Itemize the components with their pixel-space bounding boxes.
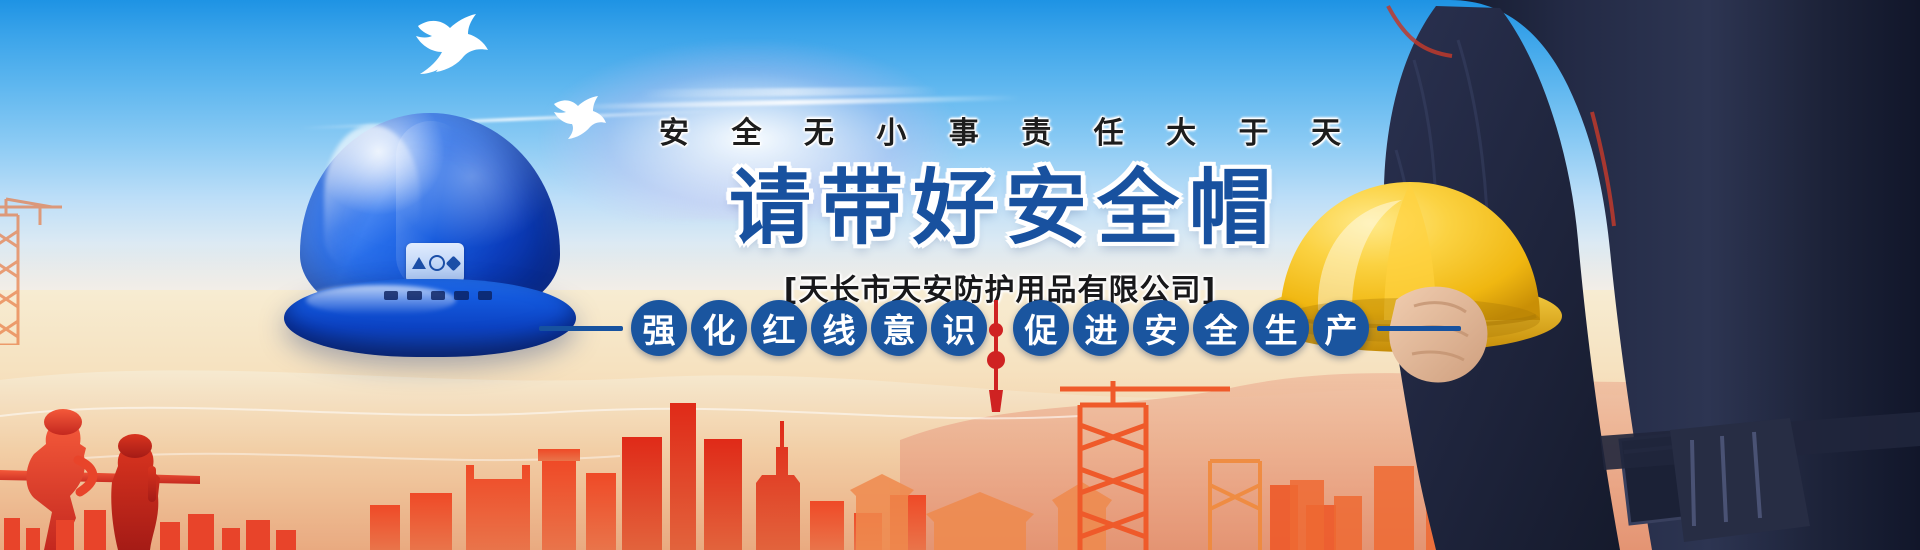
slogan-char: 化 [691,300,747,356]
slogan-char: 进 [1073,300,1129,356]
slogan-char: 红 [751,300,807,356]
safety-helmet-emblem-icon [406,243,464,283]
slogan-char: 意 [871,300,927,356]
slogan-char: 识 [931,300,987,356]
crane-icon [0,195,68,345]
slogan-rule-left [539,326,623,331]
slogan-char: 全 [1193,300,1249,356]
slogan-rule-right [1377,326,1461,331]
dove-icon [408,8,496,86]
slogan-char: 生 [1253,300,1309,356]
slogan-char: 产 [1313,300,1369,356]
blue-safety-helmet [300,95,560,360]
slogan-char: 线 [811,300,867,356]
slogan-char: 促 [1013,300,1069,356]
safety-banner: 安 全 无 小 事 责 任 大 于 天 请带好安全帽 [天长市天安防护用品有限公… [0,0,1920,550]
slogan-char: 安 [1133,300,1189,356]
slogan-phrase-2: 促 进 安 全 生 产 [1013,300,1369,356]
page-title: 请带好安全帽 [600,166,1400,253]
bottom-slogan: 强 化 红 线 意 识 促 进 安 全 生 [530,300,1470,356]
slogan-phrase-1: 强 化 红 线 意 识 [631,300,987,356]
headline-text-block: 安 全 无 小 事 责 任 大 于 天 请带好安全帽 [天长市天安防护用品有限公… [600,108,1400,309]
tagline: 安 全 无 小 事 责 任 大 于 天 [600,108,1400,152]
construction-workers-icon [0,370,300,550]
helmet-vents [384,291,492,301]
slogan-char: 强 [631,300,687,356]
